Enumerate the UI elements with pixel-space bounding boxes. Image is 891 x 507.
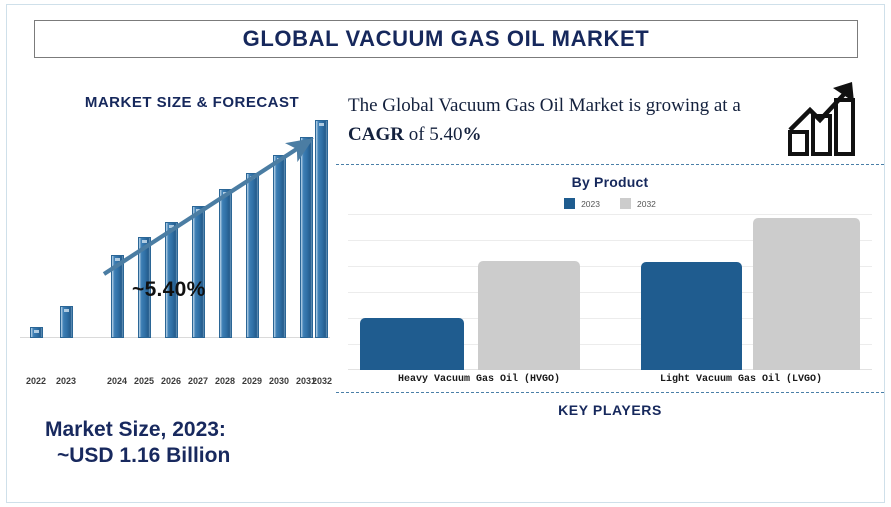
by-product-panel: The Global Vacuum Gas Oil Market is grow… — [336, 78, 884, 423]
xlabel-lvgo: Light Vacuum Gas Oil (LVGO) — [610, 374, 872, 385]
bar-lvgo-2023 — [641, 262, 742, 370]
market-size-forecast-panel: MARKET SIZE & FORECAST — [14, 78, 334, 398]
legend-item-2032: 2032 — [620, 198, 656, 209]
market-size-callout: Market Size, 2023: ~USD 1.16 Billion — [45, 417, 345, 470]
bar-lvgo-2032 — [753, 218, 860, 370]
bar-highlight — [115, 258, 120, 261]
bar-highlight — [304, 140, 309, 143]
cagr-statement-bold: CAGR — [348, 124, 404, 145]
infographic-page: GLOBAL VACUUM GAS OIL MARKET MARKET SIZE… — [0, 0, 891, 507]
key-players-title: KEY PLAYERS — [336, 402, 884, 418]
bar-highlight — [169, 225, 174, 228]
bar-2032 — [315, 120, 328, 338]
bar-highlight — [142, 240, 147, 243]
legend-label-2032: 2032 — [637, 199, 656, 209]
market-size-line-1: Market Size, 2023: — [45, 417, 345, 443]
bar-highlight — [64, 309, 69, 312]
by-product-title: By Product — [336, 174, 884, 190]
market-size-line-2: ~USD 1.16 Billion — [45, 443, 345, 469]
market-size-forecast-chart: ~5.40% — [14, 123, 334, 373]
cagr-statement: The Global Vacuum Gas Oil Market is grow… — [348, 92, 788, 149]
gridline — [348, 214, 872, 215]
title-box: GLOBAL VACUUM GAS OIL MARKET — [34, 20, 858, 58]
by-product-legend: 2023 2032 — [336, 198, 884, 209]
bar-highlight — [277, 158, 282, 161]
xlabel-hvgo: Heavy Vacuum Gas Oil (HVGO) — [348, 374, 610, 385]
cagr-annotation: ~5.40% — [132, 278, 206, 302]
bar-highlight — [319, 123, 324, 126]
bar-2028 — [219, 189, 232, 338]
bar-2024 — [111, 255, 124, 338]
bar-highlight — [223, 192, 228, 195]
bar-2031 — [300, 137, 313, 338]
bar-hvgo-2032 — [478, 261, 580, 370]
xlabel-2032: 2032 — [305, 376, 339, 386]
by-product-chart — [348, 214, 872, 370]
xlabel-2023: 2023 — [49, 376, 83, 386]
bar-2027 — [192, 206, 205, 338]
page-title: GLOBAL VACUUM GAS OIL MARKET — [243, 26, 650, 52]
bar-2029 — [246, 173, 259, 338]
xlabel-2022: 2022 — [19, 376, 53, 386]
by-product-xaxis-labels: Heavy Vacuum Gas Oil (HVGO) Light Vacuum… — [348, 374, 872, 385]
bar-2022 — [30, 327, 43, 338]
section-divider-top — [336, 164, 884, 165]
bar-highlight — [34, 330, 39, 333]
bar-2023 — [60, 306, 73, 338]
growth-chart-icon — [786, 78, 872, 158]
bar-highlight — [196, 209, 201, 212]
bar-hvgo-2023 — [360, 318, 464, 370]
section-divider-bottom — [336, 392, 884, 393]
cagr-statement-prefix: The Global Vacuum Gas Oil Market is grow… — [348, 95, 741, 116]
cagr-statement-mid: of 5.40 — [404, 124, 463, 145]
bar-highlight — [250, 176, 255, 179]
legend-item-2023: 2023 — [564, 198, 600, 209]
bar-2030 — [273, 155, 286, 338]
legend-label-2023: 2023 — [581, 199, 600, 209]
legend-swatch-2032 — [620, 198, 631, 209]
cagr-statement-percent: % — [463, 124, 482, 145]
legend-swatch-2023 — [564, 198, 575, 209]
market-size-forecast-heading: MARKET SIZE & FORECAST — [62, 94, 322, 111]
